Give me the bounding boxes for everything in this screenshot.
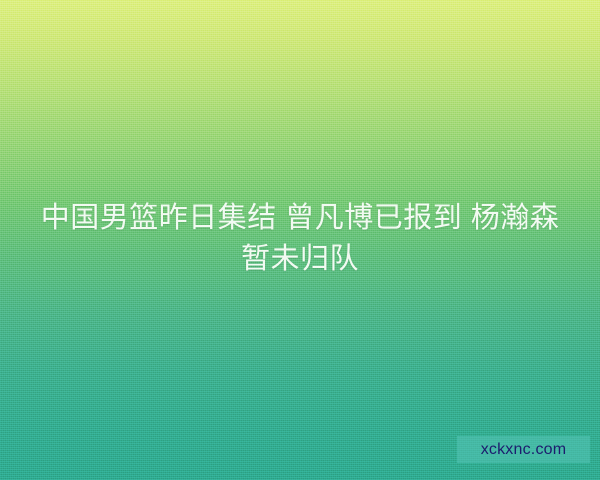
watermark-label: xckxnc.com	[481, 442, 567, 458]
news-banner: 中国男篮昨日集结 曾凡博已报到 杨瀚森暂未归队 xckxnc.com	[0, 0, 600, 480]
headline-text: 中国男篮昨日集结 曾凡博已报到 杨瀚森暂未归队	[0, 198, 600, 280]
watermark-badge: xckxnc.com	[457, 436, 590, 463]
